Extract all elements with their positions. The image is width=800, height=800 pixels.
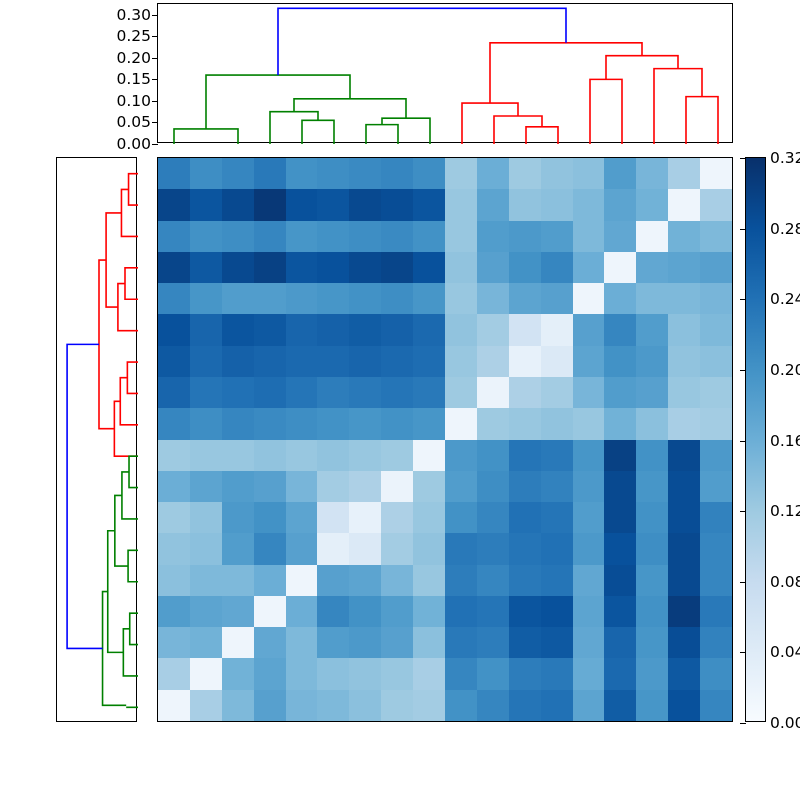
heatmap-cell — [573, 565, 605, 596]
heatmap-cell — [190, 221, 222, 252]
heatmap-cell — [636, 627, 668, 658]
heatmap-cell — [573, 408, 605, 439]
heatmap-cell — [573, 377, 605, 408]
heatmap-cell — [445, 690, 477, 721]
heatmap-cell — [349, 596, 381, 627]
heatmap-cell — [381, 533, 413, 564]
dendrogram-link — [366, 125, 398, 144]
heatmap-cell — [509, 158, 541, 189]
heatmap[interactable] — [157, 157, 733, 722]
heatmap-cell — [286, 252, 318, 283]
heatmap-cell — [158, 252, 190, 283]
heatmap-cell — [381, 221, 413, 252]
heatmap-cell — [636, 658, 668, 689]
heatmap-cell — [190, 690, 222, 721]
heatmap-cell — [509, 690, 541, 721]
top-dendrogram-tick-label: 0.10 — [116, 92, 151, 110]
heatmap-cell — [668, 408, 700, 439]
heatmap-cell — [317, 314, 349, 345]
heatmap-cell — [413, 533, 445, 564]
heatmap-cell — [477, 346, 509, 377]
heatmap-cell — [381, 377, 413, 408]
heatmap-cell — [541, 440, 573, 471]
heatmap-cell — [286, 627, 318, 658]
heatmap-cell — [349, 314, 381, 345]
heatmap-cell — [254, 221, 286, 252]
heatmap-cell — [222, 596, 254, 627]
heatmap-cell — [158, 440, 190, 471]
heatmap-cell — [541, 221, 573, 252]
colorbar-tick — [740, 299, 746, 300]
heatmap-cell — [445, 408, 477, 439]
heatmap-cell — [254, 408, 286, 439]
heatmap-cell — [381, 658, 413, 689]
heatmap-cell — [317, 533, 349, 564]
dendrogram-link — [270, 112, 318, 144]
heatmap-cell — [349, 158, 381, 189]
dendrogram-link — [120, 378, 138, 425]
clustermap-figure: 0.000.050.100.150.200.250.30 0.000.040.0… — [0, 0, 800, 800]
heatmap-cell — [254, 690, 286, 721]
heatmap-cell — [381, 408, 413, 439]
heatmap-cell — [509, 533, 541, 564]
heatmap-cell — [700, 690, 732, 721]
heatmap-cell — [509, 627, 541, 658]
heatmap-cell — [541, 314, 573, 345]
dendrogram-link — [606, 56, 678, 80]
heatmap-cell — [222, 440, 254, 471]
heatmap-cell — [700, 627, 732, 658]
heatmap-cell — [317, 471, 349, 502]
dendrogram-link — [127, 362, 138, 393]
heatmap-cell — [509, 440, 541, 471]
heatmap-cell — [636, 189, 668, 220]
heatmap-cell — [477, 565, 509, 596]
heatmap-cell — [509, 502, 541, 533]
heatmap-cell — [573, 252, 605, 283]
colorbar: 0.000.040.080.120.160.200.240.280.32 — [745, 157, 766, 722]
heatmap-cell — [381, 690, 413, 721]
heatmap-cell — [445, 440, 477, 471]
heatmap-cell — [222, 408, 254, 439]
dendrogram-link — [114, 401, 138, 456]
heatmap-cell — [349, 658, 381, 689]
heatmap-cell — [700, 314, 732, 345]
heatmap-cell — [349, 690, 381, 721]
heatmap-cell — [317, 690, 349, 721]
heatmap-cell — [413, 596, 445, 627]
heatmap-cell — [700, 440, 732, 471]
heatmap-cell — [477, 408, 509, 439]
heatmap-cell — [158, 658, 190, 689]
dendrogram-link — [128, 550, 138, 581]
dendrogram-link — [302, 120, 334, 144]
heatmap-cell — [445, 502, 477, 533]
heatmap-cell — [222, 189, 254, 220]
heatmap-cell — [668, 627, 700, 658]
heatmap-cell — [604, 252, 636, 283]
heatmap-cell — [158, 283, 190, 314]
heatmap-cell — [317, 408, 349, 439]
heatmap-cell — [477, 158, 509, 189]
heatmap-cell — [445, 471, 477, 502]
heatmap-cell — [190, 189, 222, 220]
colorbar-tick — [740, 229, 746, 230]
colorbar-tick-label: 0.16 — [770, 432, 800, 450]
heatmap-cell — [254, 158, 286, 189]
heatmap-cell — [222, 658, 254, 689]
heatmap-cell — [541, 377, 573, 408]
heatmap-cell — [413, 502, 445, 533]
heatmap-cell — [573, 283, 605, 314]
dendrogram-link — [67, 344, 102, 648]
colorbar-tick-label: 0.32 — [770, 149, 800, 167]
heatmap-cell — [158, 533, 190, 564]
heatmap-cell — [349, 471, 381, 502]
dendrogram-link — [686, 97, 718, 144]
heatmap-cell — [286, 346, 318, 377]
heatmap-cell — [317, 283, 349, 314]
heatmap-cell — [700, 221, 732, 252]
heatmap-cell — [477, 440, 509, 471]
heatmap-cell — [509, 658, 541, 689]
heatmap-cell — [254, 596, 286, 627]
heatmap-cell — [509, 346, 541, 377]
heatmap-cell — [668, 658, 700, 689]
heatmap-cell — [445, 533, 477, 564]
heatmap-cell — [286, 189, 318, 220]
heatmap-cell — [604, 283, 636, 314]
heatmap-cell — [604, 221, 636, 252]
colorbar-tick — [740, 370, 746, 371]
heatmap-cell — [158, 346, 190, 377]
heatmap-cell — [509, 408, 541, 439]
heatmap-cell — [158, 221, 190, 252]
heatmap-cell — [573, 627, 605, 658]
heatmap-cell — [636, 471, 668, 502]
heatmap-cell — [286, 377, 318, 408]
heatmap-cell — [254, 189, 286, 220]
heatmap-cell — [286, 690, 318, 721]
dendrogram-link — [590, 79, 622, 144]
heatmap-cell — [317, 440, 349, 471]
dendrogram-link — [654, 69, 702, 144]
heatmap-cell — [604, 158, 636, 189]
heatmap-cell — [509, 252, 541, 283]
heatmap-cell — [222, 502, 254, 533]
heatmap-cell — [541, 533, 573, 564]
heatmap-cell — [349, 189, 381, 220]
heatmap-cell — [158, 690, 190, 721]
heatmap-cell — [668, 377, 700, 408]
dendrogram-link — [494, 116, 542, 144]
heatmap-cell — [700, 189, 732, 220]
heatmap-cell — [413, 346, 445, 377]
heatmap-cell — [604, 408, 636, 439]
heatmap-cell — [413, 658, 445, 689]
heatmap-cell — [668, 565, 700, 596]
heatmap-cell — [158, 408, 190, 439]
heatmap-cell — [445, 596, 477, 627]
heatmap-cell — [668, 502, 700, 533]
heatmap-cell — [700, 596, 732, 627]
top-dendrogram-tick-label: 0.25 — [116, 27, 151, 45]
heatmap-cell — [349, 502, 381, 533]
colorbar-tick-label: 0.08 — [770, 573, 800, 591]
heatmap-cell — [636, 408, 668, 439]
heatmap-cell — [158, 189, 190, 220]
heatmap-cell — [317, 565, 349, 596]
heatmap-cell — [317, 346, 349, 377]
heatmap-cell — [509, 283, 541, 314]
heatmap-cell — [254, 471, 286, 502]
heatmap-cell — [190, 471, 222, 502]
top-dendrogram-tick-label: 0.20 — [116, 49, 151, 67]
heatmap-cell — [636, 690, 668, 721]
heatmap-cell — [604, 533, 636, 564]
heatmap-cell — [254, 565, 286, 596]
heatmap-cell — [381, 502, 413, 533]
heatmap-cell — [254, 252, 286, 283]
heatmap-cell — [445, 283, 477, 314]
heatmap-cell — [477, 596, 509, 627]
heatmap-cell — [477, 283, 509, 314]
heatmap-cell — [317, 221, 349, 252]
heatmap-cell — [445, 314, 477, 345]
heatmap-cell — [413, 690, 445, 721]
heatmap-cell — [286, 221, 318, 252]
heatmap-cell — [573, 189, 605, 220]
heatmap-cell — [573, 502, 605, 533]
heatmap-cell — [668, 252, 700, 283]
heatmap-cell — [381, 346, 413, 377]
heatmap-cell — [573, 346, 605, 377]
heatmap-cell — [700, 252, 732, 283]
heatmap-cell — [636, 221, 668, 252]
colorbar-tick-label: 0.12 — [770, 502, 800, 520]
dendrogram-link — [382, 118, 430, 144]
top-dendrogram-tick — [152, 36, 158, 37]
heatmap-cell — [286, 314, 318, 345]
dendrogram-link — [174, 129, 238, 144]
dendrogram-link — [294, 99, 406, 118]
heatmap-cell — [541, 189, 573, 220]
heatmap-cell — [541, 658, 573, 689]
heatmap-cell — [541, 252, 573, 283]
heatmap-cell — [509, 377, 541, 408]
heatmap-cell — [317, 502, 349, 533]
heatmap-cell — [381, 596, 413, 627]
heatmap-cell — [158, 596, 190, 627]
colorbar-tick — [740, 723, 746, 724]
heatmap-cell — [413, 377, 445, 408]
heatmap-cell — [573, 596, 605, 627]
dendrogram-link — [130, 613, 138, 644]
dendrogram-link — [125, 268, 138, 299]
heatmap-cell — [317, 596, 349, 627]
heatmap-cell — [636, 440, 668, 471]
heatmap-cell — [222, 346, 254, 377]
heatmap-cell — [445, 189, 477, 220]
heatmap-cell — [509, 221, 541, 252]
heatmap-cell — [604, 565, 636, 596]
heatmap-cell — [509, 565, 541, 596]
heatmap-cell — [541, 565, 573, 596]
heatmap-cell — [509, 189, 541, 220]
top-dendrogram-tree — [158, 4, 734, 144]
heatmap-cell — [604, 596, 636, 627]
heatmap-cell — [381, 314, 413, 345]
heatmap-cell — [381, 565, 413, 596]
heatmap-cell — [573, 658, 605, 689]
heatmap-cell — [190, 346, 222, 377]
heatmap-cell — [636, 283, 668, 314]
dendrogram-link — [122, 472, 138, 519]
heatmap-cell — [349, 440, 381, 471]
heatmap-cell — [286, 502, 318, 533]
heatmap-cell — [445, 658, 477, 689]
heatmap-cell — [254, 346, 286, 377]
heatmap-cell — [668, 533, 700, 564]
heatmap-cell — [700, 533, 732, 564]
dendrogram-link — [106, 213, 121, 307]
heatmap-cell — [445, 158, 477, 189]
heatmap-cell — [349, 221, 381, 252]
heatmap-cell — [381, 627, 413, 658]
heatmap-cell — [413, 471, 445, 502]
heatmap-cell — [413, 189, 445, 220]
heatmap-cell — [317, 158, 349, 189]
heatmap-cell — [190, 314, 222, 345]
heatmap-cell — [668, 158, 700, 189]
heatmap-cell — [573, 314, 605, 345]
heatmap-cell — [541, 690, 573, 721]
heatmap-cell — [222, 565, 254, 596]
heatmap-cell — [190, 252, 222, 283]
heatmap-cell — [477, 471, 509, 502]
colorbar-tick-label: 0.00 — [770, 714, 800, 732]
colorbar-tick-label: 0.28 — [770, 220, 800, 238]
heatmap-cell — [413, 440, 445, 471]
colorbar-tick-label: 0.20 — [770, 361, 800, 379]
heatmap-cell — [158, 627, 190, 658]
heatmap-cell — [541, 408, 573, 439]
dendrogram-link — [129, 456, 138, 487]
colorbar-tick — [740, 158, 746, 159]
heatmap-cell — [573, 221, 605, 252]
heatmap-cell — [636, 377, 668, 408]
heatmap-cell — [349, 283, 381, 314]
heatmap-cell — [604, 627, 636, 658]
heatmap-cell — [222, 314, 254, 345]
heatmap-cell — [573, 158, 605, 189]
dendrogram-link — [278, 8, 566, 75]
heatmap-cell — [636, 252, 668, 283]
dendrogram-link — [490, 43, 642, 103]
heatmap-cell — [636, 346, 668, 377]
heatmap-cell — [190, 440, 222, 471]
heatmap-cell — [190, 502, 222, 533]
heatmap-cell — [254, 314, 286, 345]
heatmap-cell — [700, 283, 732, 314]
heatmap-cell — [317, 189, 349, 220]
heatmap-cell — [509, 471, 541, 502]
heatmap-cell — [413, 158, 445, 189]
heatmap-cell — [636, 533, 668, 564]
heatmap-cell — [254, 502, 286, 533]
heatmap-cell — [349, 346, 381, 377]
heatmap-cell — [222, 690, 254, 721]
heatmap-cell — [190, 565, 222, 596]
heatmap-cell — [700, 346, 732, 377]
top-dendrogram-panel: 0.000.050.100.150.200.250.30 — [157, 3, 733, 143]
heatmap-cell — [349, 252, 381, 283]
heatmap-cell — [541, 471, 573, 502]
heatmap-cell — [445, 565, 477, 596]
heatmap-cell — [413, 314, 445, 345]
heatmap-cell — [222, 283, 254, 314]
heatmap-cell — [381, 252, 413, 283]
heatmap-cell — [222, 158, 254, 189]
heatmap-cell — [254, 377, 286, 408]
heatmap-cell — [509, 314, 541, 345]
heatmap-cell — [190, 158, 222, 189]
heatmap-cell — [286, 283, 318, 314]
heatmap-cell — [700, 377, 732, 408]
heatmap-cell — [413, 283, 445, 314]
heatmap-cell — [445, 377, 477, 408]
colorbar-tick-label: 0.24 — [770, 290, 800, 308]
left-dendrogram-panel — [56, 157, 137, 722]
heatmap-cell — [668, 346, 700, 377]
heatmap-cell — [222, 252, 254, 283]
heatmap-cell — [604, 377, 636, 408]
heatmap-cell — [349, 408, 381, 439]
heatmap-cell-grid — [158, 158, 732, 721]
heatmap-cell — [349, 377, 381, 408]
heatmap-cell — [190, 283, 222, 314]
heatmap-cell — [413, 627, 445, 658]
heatmap-cell — [477, 533, 509, 564]
heatmap-cell — [190, 377, 222, 408]
heatmap-cell — [286, 440, 318, 471]
dendrogram-link — [462, 103, 518, 144]
dendrogram-link — [118, 284, 138, 331]
heatmap-cell — [604, 658, 636, 689]
heatmap-cell — [509, 596, 541, 627]
heatmap-cell — [604, 314, 636, 345]
heatmap-cell — [700, 658, 732, 689]
heatmap-cell — [477, 221, 509, 252]
top-dendrogram-tick — [152, 144, 158, 145]
heatmap-cell — [413, 252, 445, 283]
top-dendrogram-tick — [152, 101, 158, 102]
heatmap-cell — [668, 189, 700, 220]
heatmap-cell — [317, 627, 349, 658]
heatmap-cell — [349, 565, 381, 596]
heatmap-cell — [254, 533, 286, 564]
heatmap-cell — [700, 565, 732, 596]
heatmap-cell — [541, 627, 573, 658]
heatmap-cell — [668, 596, 700, 627]
heatmap-cell — [573, 690, 605, 721]
top-dendrogram-tick-label: 0.30 — [116, 6, 151, 24]
heatmap-cell — [190, 408, 222, 439]
heatmap-cell — [349, 627, 381, 658]
colorbar-tick — [740, 582, 746, 583]
heatmap-cell — [254, 627, 286, 658]
heatmap-cell — [700, 471, 732, 502]
